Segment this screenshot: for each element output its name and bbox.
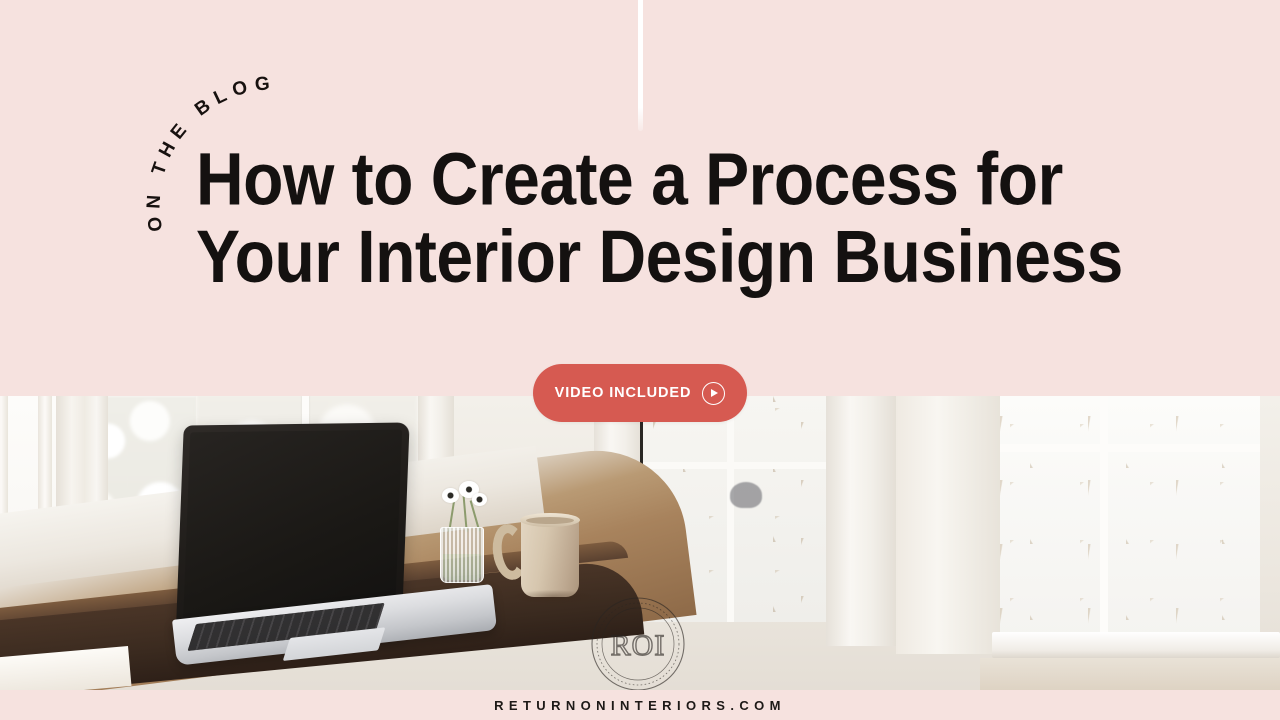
window-mullion	[643, 462, 829, 469]
blog-graphic-canvas: ON THE BLOG How to Create a Process for …	[0, 0, 1280, 720]
vertical-accent-line	[638, 0, 643, 131]
glass-vase	[440, 527, 484, 583]
page-title: How to Create a Process for Your Interio…	[196, 142, 1126, 293]
window-mullion	[727, 396, 734, 622]
window-right	[1000, 396, 1260, 644]
roi-watermark: ROI	[588, 594, 688, 690]
floor	[980, 658, 1280, 690]
wall-pier	[826, 396, 896, 646]
play-circle-icon[interactable]	[702, 382, 725, 405]
white-anemone	[472, 493, 487, 506]
hero-photo: ROI	[0, 396, 1280, 690]
header-band: ON THE BLOG How to Create a Process for …	[0, 0, 1280, 397]
roi-watermark-text: ROI	[611, 629, 666, 662]
video-included-label: VIDEO INCLUDED	[555, 385, 692, 401]
page-title-line2: Your Interior Design Business	[196, 219, 1126, 293]
video-included-button[interactable]: VIDEO INCLUDED	[533, 364, 747, 422]
mug-rim	[520, 513, 580, 527]
white-anemone	[442, 488, 459, 503]
window-mullion	[1100, 396, 1108, 644]
footer-band: RETURNONINTERIORS.COM	[0, 690, 1280, 720]
window-mullion	[1000, 444, 1260, 452]
ceramic-mug	[521, 516, 579, 597]
bare-branches	[1000, 396, 1260, 644]
mug-shadow	[515, 590, 591, 603]
chair-silhouette	[730, 482, 762, 508]
window-sill	[992, 632, 1280, 658]
vase-water	[443, 554, 481, 580]
page-title-line1: How to Create a Process for	[196, 138, 1063, 221]
website-url[interactable]: RETURNONINTERIORS.COM	[494, 698, 786, 713]
wall-panel	[896, 396, 1000, 654]
